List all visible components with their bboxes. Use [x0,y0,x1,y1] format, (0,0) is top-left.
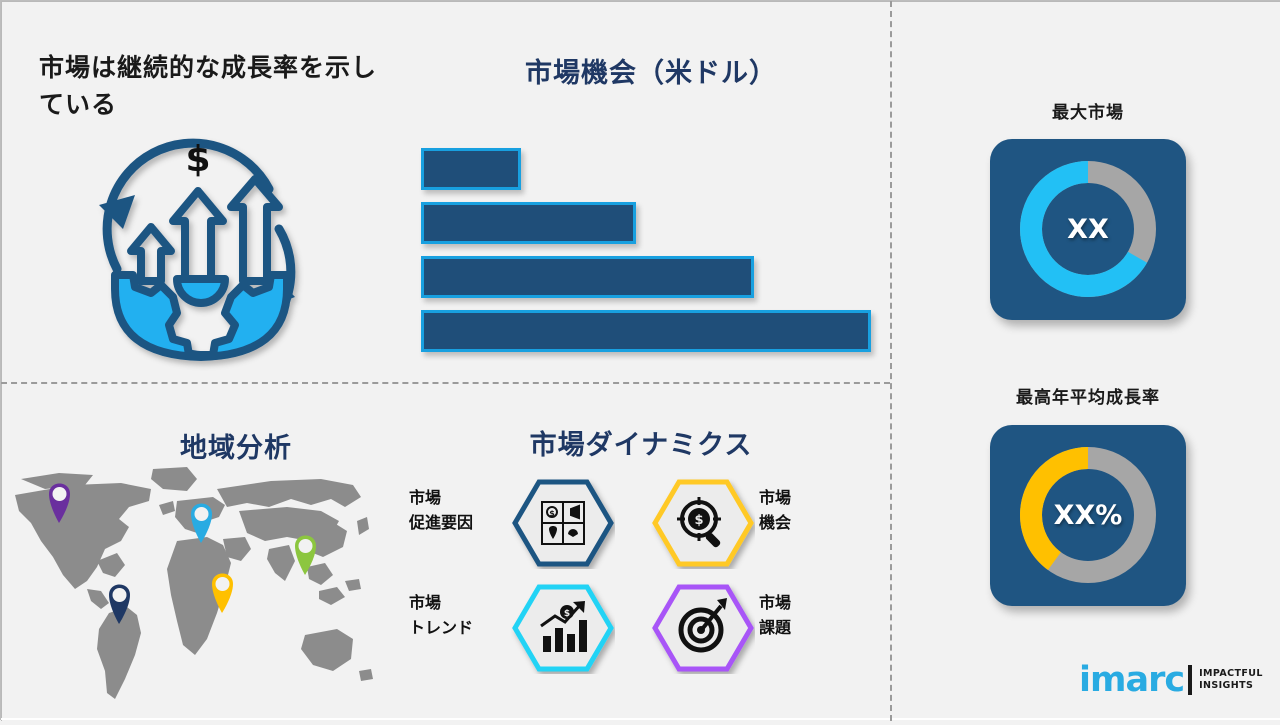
growth-statement-title: 市場は継続的な成長率を示している [39,49,384,123]
dynamics-row-1: 市場 促進要因 $ [401,477,861,569]
imarc-logo: imarc IMPACTFUL INSIGHTS [1079,658,1269,702]
svg-text:$: $ [694,513,703,528]
bar-1 [421,148,521,190]
hex-label-line1: 市場 [409,485,519,510]
logo-tagline-line2: INSIGHTS [1199,680,1263,692]
hex-label-line1: 市場 [759,590,869,615]
slide-edge-top [1,1,1280,2]
bar-4 [421,310,871,352]
hex-label-market-challenges: 市場 課題 [759,590,869,640]
logo-tagline-line1: IMPACTFUL [1199,668,1263,680]
donut-card-highest-cagr: XX% [990,425,1186,606]
dynamics-row-2: 市場 トレンド $ [401,582,861,674]
hex-label-line2: 機会 [759,510,869,535]
donut-title-largest-market: 最大市場 [938,98,1238,123]
bar-row [421,310,881,352]
hex-label-line1: 市場 [409,590,519,615]
logo-wordmark: imarc [1079,663,1184,698]
hex-label-market-opportunities: 市場 機会 [759,485,869,535]
bar-row [421,256,881,298]
market-dynamics-group: 市場 促進要因 $ [401,477,861,677]
hex-label-line2: トレンド [409,615,519,640]
hex-market-opportunities[interactable]: $ [651,477,755,569]
hex-label-line1: 市場 [759,485,869,510]
bar-2 [421,202,636,244]
svg-text:$: $ [564,609,570,619]
bar-3 [421,256,754,298]
hex-market-challenges[interactable] [651,582,755,674]
divider-vertical [890,1,892,721]
bar-row [421,202,881,244]
market-opportunity-bar-chart [421,148,881,348]
donut-chart-highest-cagr [1011,438,1165,592]
hex-label-market-drivers: 市場 促進要因 [409,485,519,535]
donut-card-largest-market: XX [990,139,1186,320]
hex-label-line2: 課題 [759,615,869,640]
slide-canvas: 市場は継続的な成長率を示している [0,0,1280,720]
market-opportunity-title: 市場機会（米ドル） [421,51,881,90]
world-map [1,449,401,721]
regional-analysis-title: 地域分析 [121,426,351,465]
bar-row [421,148,881,190]
divider-horizontal [1,382,890,384]
dollar-sign-label: $ [185,139,210,180]
hex-market-trends[interactable]: $ [511,582,615,674]
logo-divider-bar [1188,665,1192,695]
logo-tagline: IMPACTFUL INSIGHTS [1199,668,1263,692]
svg-text:$: $ [549,509,555,518]
hex-label-line2: 促進要因 [409,510,519,535]
market-dynamics-title: 市場ダイナミクス [421,423,861,462]
donut-chart-largest-market [1011,152,1165,306]
growth-cycle-gear-icon: $ [73,129,323,371]
hex-label-market-trends: 市場 トレンド [409,590,519,640]
pin-europe [191,504,212,544]
donut-title-highest-cagr: 最高年平均成長率 [938,383,1238,408]
hex-market-drivers[interactable]: $ [511,477,615,569]
